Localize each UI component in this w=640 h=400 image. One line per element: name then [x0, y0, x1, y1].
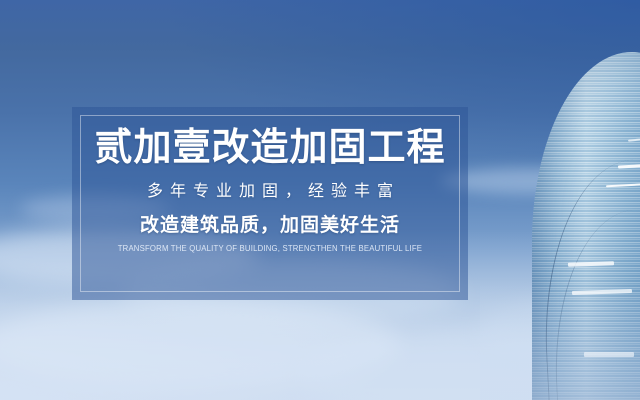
panel-content: 贰加壹改造加固工程 多年专业加固，经验丰富 改造建筑品质，加固美好生活 TRAN… [72, 107, 468, 300]
headline-slogan-english: TRANSFORM THE QUALITY OF BUILDING, STREN… [118, 245, 422, 253]
skyscraper-base-fog [480, 280, 640, 400]
headline-title: 贰加壹改造加固工程 [94, 129, 445, 167]
headline-subtitle-primary: 多年专业加固，经验丰富 [140, 184, 400, 200]
headline-panel: 贰加壹改造加固工程 多年专业加固，经验丰富 改造建筑品质，加固美好生活 TRAN… [72, 107, 468, 300]
hero-banner: 贰加壹改造加固工程 多年专业加固，经验丰富 改造建筑品质，加固美好生活 TRAN… [0, 0, 640, 400]
skyscraper-photo [480, 0, 640, 400]
headline-slogan: 改造建筑品质，加固美好生活 [140, 216, 400, 235]
